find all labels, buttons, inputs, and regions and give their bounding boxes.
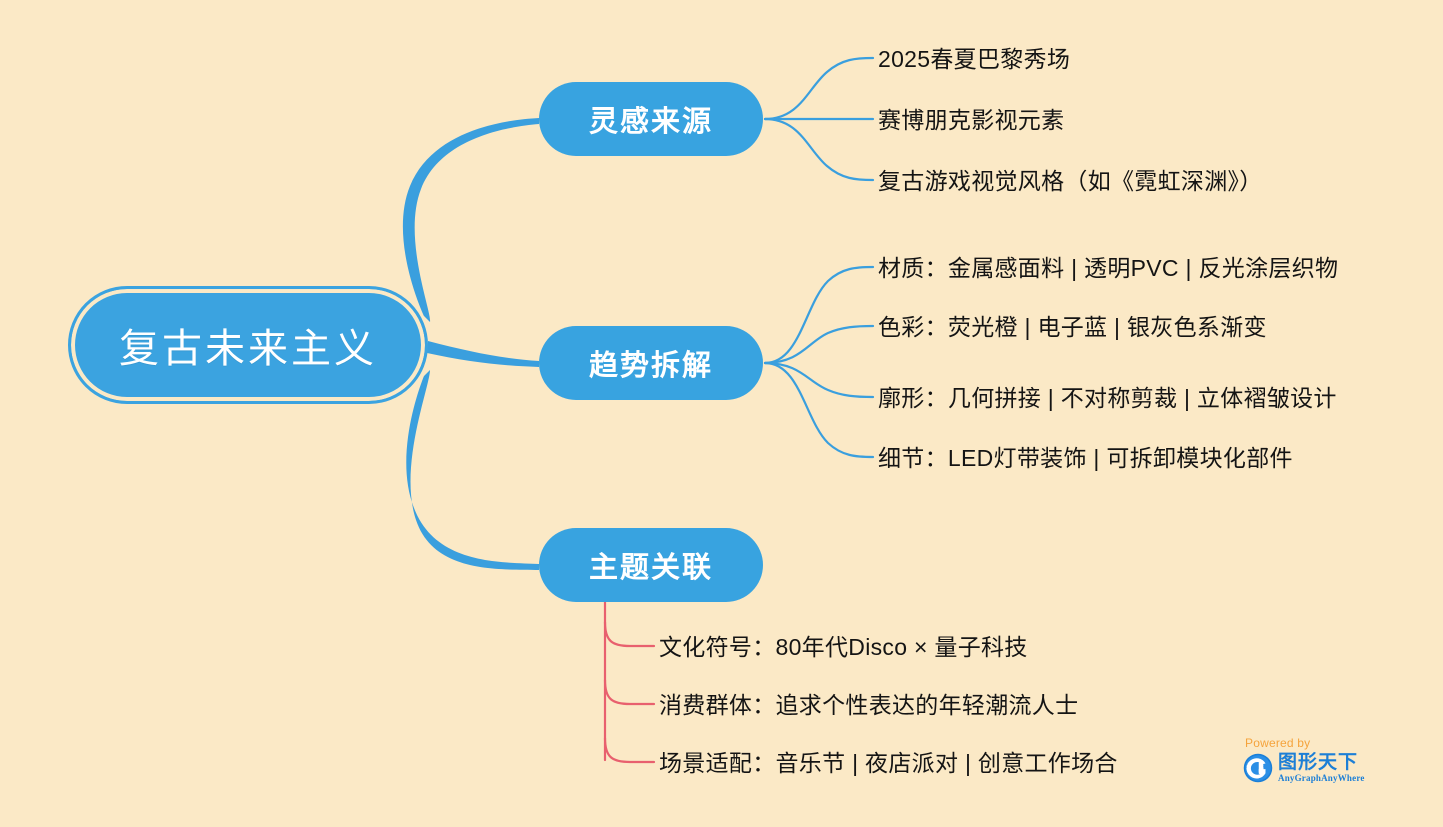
- leaf-connector-1-1: [765, 58, 873, 119]
- branch-node-inspiration[interactable]: 灵感来源: [539, 82, 763, 156]
- leaf-item[interactable]: 消费群体：追求个性表达的年轻潮流人士: [659, 694, 1078, 717]
- brand-name-cn: 图形天下: [1278, 753, 1365, 772]
- leaf-item[interactable]: 场景适配：音乐节 | 夜店派对 | 创意工作场合: [659, 752, 1118, 775]
- leaf-connector-3-3: [605, 738, 654, 762]
- leaf-connector-1-3: [765, 119, 873, 180]
- watermark-logo-row: 图形天下 AnyGraphAnyWhere: [1243, 753, 1373, 783]
- leaf-connector-3-1: [605, 622, 654, 646]
- brand-name-en: AnyGraphAnyWhere: [1278, 774, 1365, 783]
- root-node[interactable]: 复古未来主义: [68, 286, 428, 404]
- branch-node-label: 主题关联: [589, 544, 713, 586]
- powered-by-label: Powered by: [1245, 736, 1373, 750]
- branch-node-trend-breakdown[interactable]: 趋势拆解: [539, 326, 763, 400]
- branch-node-theme-relation[interactable]: 主题关联: [539, 528, 763, 602]
- leaf-item[interactable]: 复古游戏视觉风格（如《霓虹深渊》）: [878, 170, 1263, 193]
- leaf-item[interactable]: 赛博朋克影视元素: [878, 109, 1064, 132]
- brand-g-logo-icon: [1243, 753, 1273, 783]
- leaf-connector-2-3: [765, 363, 873, 397]
- watermark: Powered by 图形天下 AnyGraphAnyWhere: [1243, 736, 1373, 798]
- mindmap-canvas: 复古未来主义 灵感来源 趋势拆解 主题关联 2025春夏巴黎秀场 赛博朋克影视元…: [0, 0, 1443, 827]
- root-branch-curve-1: [403, 118, 539, 322]
- leaf-connector-2-2: [765, 326, 873, 363]
- leaf-item[interactable]: 文化符号：80年代Disco × 量子科技: [659, 636, 1028, 659]
- leaf-connector-2-4: [765, 363, 873, 457]
- root-branch-curve-2: [427, 341, 539, 367]
- root-branch-curve-3: [406, 370, 539, 570]
- leaf-item[interactable]: 材质：金属感面料 | 透明PVC | 反光涂层织物: [878, 257, 1338, 280]
- root-node-label: 复古未来主义: [119, 316, 377, 374]
- leaf-item[interactable]: 廓形：几何拼接 | 不对称剪裁 | 立体褶皱设计: [878, 387, 1337, 410]
- leaf-connector-2-1: [765, 267, 873, 363]
- brand-text: 图形天下 AnyGraphAnyWhere: [1278, 753, 1365, 783]
- leaf-item[interactable]: 细节：LED灯带装饰 | 可拆卸模块化部件: [878, 447, 1293, 470]
- leaf-item[interactable]: 2025春夏巴黎秀场: [878, 48, 1070, 71]
- branch-node-label: 灵感来源: [589, 98, 713, 140]
- leaf-item[interactable]: 色彩：荧光橙 | 电子蓝 | 银灰色系渐变: [878, 316, 1267, 339]
- branch-node-label: 趋势拆解: [589, 342, 713, 384]
- leaf-connector-3-2: [605, 680, 654, 704]
